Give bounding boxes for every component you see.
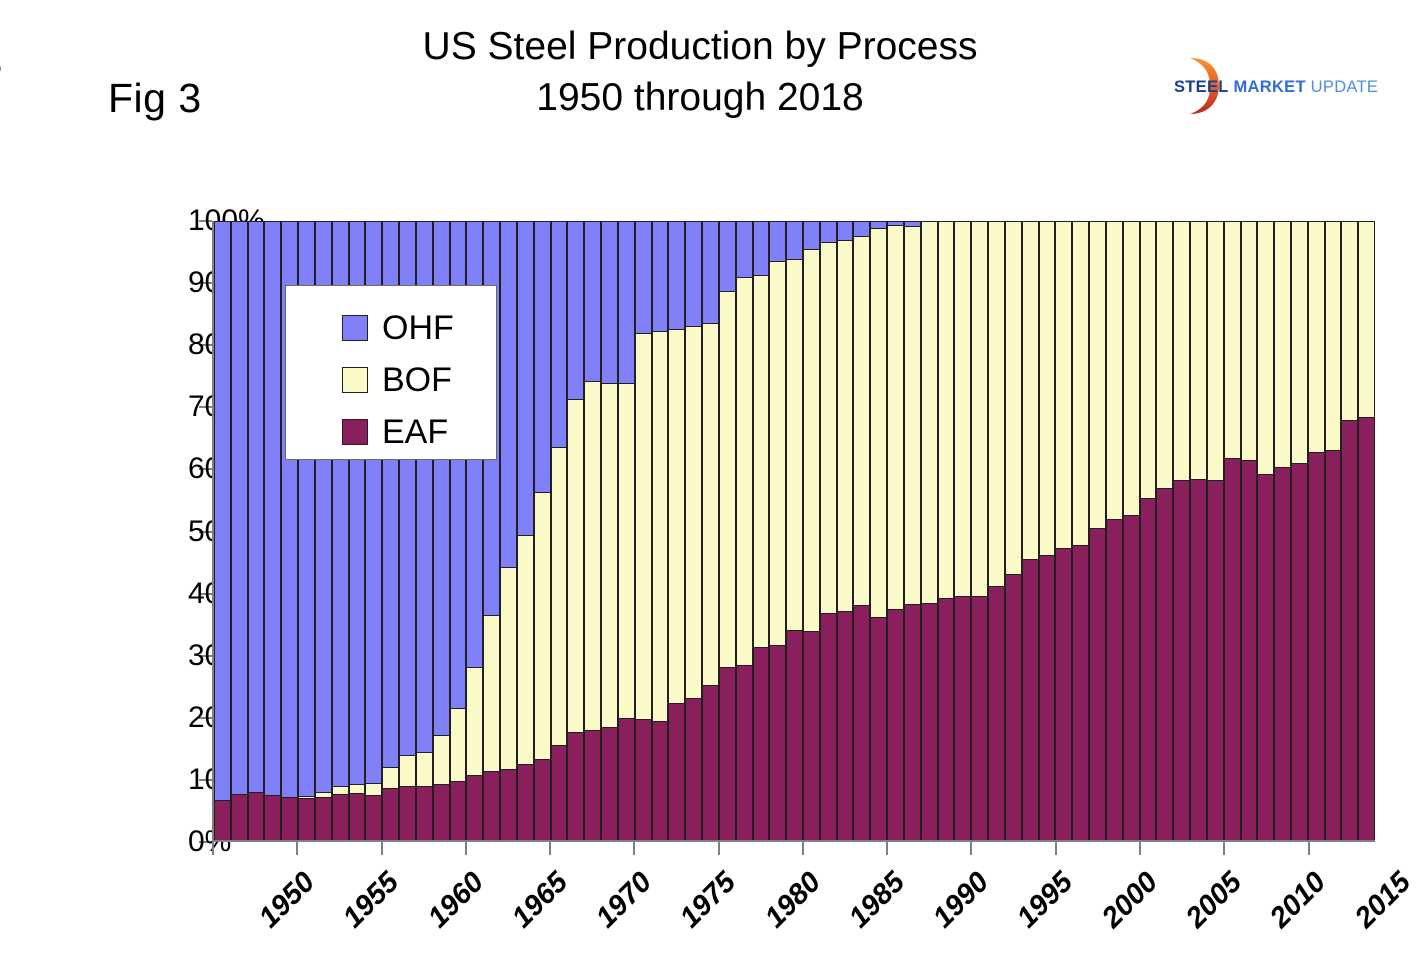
bar-segment-eaf — [1089, 528, 1106, 840]
bar-segment-eaf — [753, 647, 770, 840]
bar-1988 — [853, 221, 870, 840]
bar-1953 — [264, 221, 281, 840]
bar-segment-eaf — [214, 800, 231, 840]
bar-segment-ohf — [853, 221, 870, 236]
bar-2005 — [1140, 221, 1157, 840]
x-tick-mark — [1139, 842, 1141, 855]
bar-1974 — [618, 221, 635, 840]
bar-segment-eaf — [837, 611, 854, 840]
x-tick-mark — [296, 842, 298, 855]
bar-1995 — [971, 221, 988, 840]
bar-1981 — [736, 221, 753, 840]
bar-2001 — [1072, 221, 1089, 840]
bar-segment-bof — [1055, 221, 1072, 548]
bar-segment-bof — [349, 784, 366, 793]
bar-segment-eaf — [1140, 498, 1157, 840]
bar-segment-ohf — [820, 221, 837, 242]
bar-segment-bof — [736, 277, 753, 665]
bar-2015 — [1308, 221, 1325, 840]
bar-segment-eaf — [1291, 463, 1308, 840]
x-tick-label: 1975 — [674, 866, 743, 935]
bar-segment-bof — [702, 323, 719, 685]
bar-1950 — [214, 221, 231, 840]
x-tick-mark — [212, 842, 214, 855]
bar-segment-bof — [870, 228, 887, 616]
bar-segment-eaf — [820, 613, 837, 840]
bar-segment-ohf — [736, 221, 753, 277]
bar-segment-bof — [382, 767, 399, 788]
bar-segment-bof — [365, 783, 382, 795]
bar-1979 — [702, 221, 719, 840]
bar-segment-ohf — [231, 221, 248, 794]
legend-swatch-eaf — [342, 419, 368, 445]
bar-2012 — [1257, 221, 1274, 840]
bar-1969 — [534, 221, 551, 840]
bar-segment-eaf — [1173, 480, 1190, 840]
bar-1989 — [870, 221, 887, 840]
bar-segment-bof — [803, 249, 820, 632]
bar-segment-eaf — [534, 759, 551, 840]
bar-segment-bof — [567, 399, 584, 732]
bar-segment-eaf — [1039, 555, 1056, 840]
bar-segment-eaf — [231, 794, 248, 840]
bar-segment-bof — [988, 221, 1005, 586]
bar-2002 — [1089, 221, 1106, 840]
bar-segment-eaf — [1123, 515, 1140, 840]
bar-segment-bof — [1257, 221, 1274, 474]
x-tick-label: 1980 — [759, 866, 828, 935]
bar-segment-bof — [1291, 221, 1308, 463]
x-tick-label: 1990 — [927, 866, 996, 935]
bar-segment-eaf — [618, 718, 635, 840]
logo-wordmark: STEEL MARKET UPDATE — [1174, 78, 1378, 97]
bar-1977 — [668, 221, 685, 840]
bar-2018 — [1358, 221, 1375, 840]
bar-segment-ohf — [753, 221, 770, 275]
x-tick-mark — [1308, 842, 1310, 855]
bar-segment-bof — [1308, 221, 1325, 452]
bar-segment-bof — [466, 667, 483, 775]
bar-segment-eaf — [551, 745, 568, 840]
logo-word-market: MARKET — [1233, 78, 1305, 96]
legend-item-ohf: OHF — [286, 302, 496, 354]
bar-segment-eaf — [1022, 559, 1039, 840]
bar-segment-bof — [601, 383, 618, 727]
bar-segment-eaf — [719, 667, 736, 840]
bar-segment-bof — [517, 535, 534, 765]
bar-segment-ohf — [685, 221, 702, 326]
bar-segment-bof — [1241, 221, 1258, 460]
bar-segment-bof — [685, 326, 702, 697]
x-tick-label: 1950 — [253, 866, 322, 935]
bar-segment-eaf — [1156, 488, 1173, 840]
bar-segment-bof — [1274, 221, 1291, 467]
bar-segment-eaf — [635, 719, 652, 840]
bar-segment-eaf — [466, 775, 483, 840]
bar-segment-bof — [753, 275, 770, 648]
bar-segment-bof — [1156, 221, 1173, 488]
bar-segment-ohf — [517, 221, 534, 535]
bar-segment-bof — [618, 383, 635, 718]
bar-segment-eaf — [584, 730, 601, 840]
bar-segment-eaf — [433, 784, 450, 840]
bar-segment-eaf — [954, 596, 971, 840]
bar-segment-eaf — [904, 604, 921, 840]
bar-segment-bof — [1022, 221, 1039, 559]
x-tick-mark — [633, 842, 635, 855]
bar-segment-bof — [416, 752, 433, 787]
logo-word-update: UPDATE — [1311, 78, 1379, 96]
bar-segment-bof — [635, 333, 652, 719]
bar-1952 — [248, 221, 265, 840]
bar-segment-eaf — [416, 786, 433, 840]
bar-1982 — [753, 221, 770, 840]
bar-segment-eaf — [1341, 420, 1358, 840]
bar-segment-eaf — [517, 764, 534, 840]
x-tick-label: 1960 — [421, 866, 490, 935]
bar-segment-eaf — [264, 795, 281, 840]
chart-title-line2: 1950 through 2018 — [260, 73, 1140, 124]
bar-2009 — [1207, 221, 1224, 840]
bar-segment-eaf — [1325, 450, 1342, 840]
bar-segment-bof — [500, 567, 517, 769]
bar-segment-bof — [399, 755, 416, 786]
x-tick-mark — [886, 842, 888, 855]
bar-segment-eaf — [1207, 480, 1224, 840]
bar-segment-bof — [1072, 221, 1089, 545]
bar-segment-ohf — [584, 221, 601, 381]
bar-2008 — [1190, 221, 1207, 840]
bar-segment-eaf — [399, 786, 416, 840]
x-tick-label: 1985 — [843, 866, 912, 935]
bar-segment-eaf — [853, 605, 870, 840]
bar-segment-eaf — [736, 665, 753, 840]
bar-1968 — [517, 221, 534, 840]
bar-segment-eaf — [1308, 452, 1325, 840]
bar-segment-eaf — [1241, 460, 1258, 840]
bar-segment-eaf — [1358, 417, 1375, 840]
x-tick-mark — [1055, 842, 1057, 855]
bar-segment-eaf — [1055, 548, 1072, 840]
bar-1993 — [938, 221, 955, 840]
bar-segment-bof — [1089, 221, 1106, 528]
bar-segment-ohf — [500, 221, 517, 567]
bar-segment-eaf — [382, 788, 399, 840]
bar-segment-bof — [887, 225, 904, 609]
x-tick-label: 2010 — [1264, 866, 1333, 935]
legend-label: OHF — [382, 311, 454, 345]
bar-segment-eaf — [332, 794, 349, 840]
bar-2004 — [1123, 221, 1140, 840]
bar-1987 — [837, 221, 854, 840]
legend-item-eaf: EAF — [286, 406, 496, 458]
bar-1976 — [652, 221, 669, 840]
x-tick-mark — [718, 842, 720, 855]
bar-segment-bof — [1123, 221, 1140, 515]
bar-segment-bof — [719, 291, 736, 667]
bar-segment-bof — [668, 329, 685, 702]
bar-segment-ohf — [870, 221, 887, 228]
bar-segment-eaf — [803, 631, 820, 840]
bar-segment-bof — [1207, 221, 1224, 480]
bar-segment-eaf — [315, 797, 332, 840]
bar-1984 — [786, 221, 803, 840]
bar-segment-ohf — [652, 221, 669, 331]
bar-segment-bof — [652, 331, 669, 721]
bar-2010 — [1224, 221, 1241, 840]
bar-segment-eaf — [870, 617, 887, 840]
bar-segment-eaf — [1106, 519, 1123, 840]
bar-2011 — [1241, 221, 1258, 840]
bar-segment-bof — [853, 236, 870, 605]
bar-segment-eaf — [887, 609, 904, 840]
bar-1970 — [551, 221, 568, 840]
bar-segment-bof — [769, 261, 786, 645]
bar-1997 — [1005, 221, 1022, 840]
bar-segment-eaf — [1224, 458, 1241, 840]
bar-segment-ohf — [618, 221, 635, 383]
logo-word-steel: STEEL — [1174, 78, 1229, 96]
bar-2003 — [1106, 221, 1123, 840]
x-tick-mark — [802, 842, 804, 855]
figure-label: Fig 3 — [108, 75, 202, 122]
bar-1983 — [769, 221, 786, 840]
bar-segment-bof — [1341, 221, 1358, 420]
bar-2013 — [1274, 221, 1291, 840]
bar-1992 — [921, 221, 938, 840]
bar-segment-eaf — [938, 598, 955, 840]
bar-segment-bof — [1358, 221, 1375, 417]
bar-segment-ohf — [551, 221, 568, 447]
bar-segment-bof — [921, 221, 938, 603]
bar-segment-eaf — [349, 793, 366, 840]
bar-segment-bof — [551, 447, 568, 745]
x-tick-label: 2005 — [1180, 866, 1249, 935]
bar-segment-bof — [483, 615, 500, 771]
bar-segment-bof — [1224, 221, 1241, 458]
bar-1980 — [719, 221, 736, 840]
bar-2000 — [1055, 221, 1072, 840]
x-tick-mark — [970, 842, 972, 855]
bar-segment-bof — [433, 735, 450, 783]
x-tick-mark — [1223, 842, 1225, 855]
bar-segment-ohf — [534, 221, 551, 492]
x-tick-label: 2015 — [1348, 866, 1417, 935]
bar-1967 — [500, 221, 517, 840]
bar-segment-eaf — [769, 645, 786, 840]
bar-1972 — [584, 221, 601, 840]
bar-segment-eaf — [298, 798, 315, 840]
legend-item-bof: BOF — [286, 354, 496, 406]
x-tick-label: 2000 — [1096, 866, 1165, 935]
bar-1996 — [988, 221, 1005, 840]
bar-segment-eaf — [988, 586, 1005, 840]
bar-segment-bof — [332, 786, 349, 793]
bar-1991 — [904, 221, 921, 840]
bar-1985 — [803, 221, 820, 840]
steel-market-update-logo: STEEL MARKET UPDATE — [1152, 55, 1380, 117]
bar-segment-ohf — [248, 221, 265, 792]
bar-segment-eaf — [365, 795, 382, 840]
bar-2006 — [1156, 221, 1173, 840]
bar-2014 — [1291, 221, 1308, 840]
bar-segment-eaf — [281, 797, 298, 840]
chart-title-line1: US Steel Production by Process — [423, 25, 978, 68]
chart-page: Fig 3 US Steel Production by Process 195… — [0, 0, 1420, 973]
bar-1978 — [685, 221, 702, 840]
bar-segment-eaf — [685, 698, 702, 840]
y-axis-title: % Production by Process — [0, 0, 2, 300]
bar-segment-eaf — [1072, 545, 1089, 840]
bar-segment-bof — [450, 708, 467, 781]
bar-segment-eaf — [702, 685, 719, 840]
bar-2016 — [1325, 221, 1342, 840]
bar-segment-bof — [938, 221, 955, 598]
bar-segment-bof — [1190, 221, 1207, 479]
bar-segment-ohf — [601, 221, 618, 383]
x-tick-mark — [549, 842, 551, 855]
bar-segment-bof — [584, 381, 601, 730]
bar-segment-eaf — [652, 721, 669, 840]
chart-title: US Steel Production by Process 1950 thro… — [260, 22, 1140, 123]
bar-1990 — [887, 221, 904, 840]
bar-segment-bof — [1173, 221, 1190, 480]
bar-segment-eaf — [786, 630, 803, 840]
bar-segment-bof — [1106, 221, 1123, 519]
bar-segment-eaf — [971, 596, 988, 841]
bar-1975 — [635, 221, 652, 840]
bar-segment-eaf — [1005, 574, 1022, 840]
bar-segment-ohf — [837, 221, 854, 240]
bar-segment-bof — [954, 221, 971, 596]
bar-1998 — [1022, 221, 1039, 840]
bar-segment-eaf — [1274, 467, 1291, 840]
bar-segment-bof — [820, 242, 837, 613]
bar-segment-bof — [1140, 221, 1157, 498]
x-tick-label: 1970 — [590, 866, 659, 935]
bar-segment-eaf — [500, 769, 517, 840]
bar-segment-eaf — [248, 792, 265, 840]
bar-segment-bof — [1325, 221, 1342, 450]
legend-swatch-ohf — [342, 315, 368, 341]
bar-segment-ohf — [803, 221, 820, 249]
bar-1986 — [820, 221, 837, 840]
x-tick-label: 1955 — [337, 866, 406, 935]
bar-1973 — [601, 221, 618, 840]
bar-segment-bof — [1005, 221, 1022, 574]
bar-segment-eaf — [1190, 479, 1207, 840]
bar-segment-bof — [904, 226, 921, 604]
bar-segment-ohf — [264, 221, 281, 795]
bar-segment-eaf — [921, 603, 938, 840]
x-tick-mark — [381, 842, 383, 855]
bar-1951 — [231, 221, 248, 840]
bar-segment-eaf — [450, 781, 467, 840]
bar-segment-bof — [971, 221, 988, 596]
bar-2007 — [1173, 221, 1190, 840]
bar-segment-bof — [837, 240, 854, 611]
bar-segment-ohf — [786, 221, 803, 259]
legend-swatch-bof — [342, 367, 368, 393]
bar-segment-eaf — [668, 703, 685, 840]
bar-1971 — [567, 221, 584, 840]
bar-segment-ohf — [702, 221, 719, 323]
bar-1999 — [1039, 221, 1056, 840]
bar-segment-eaf — [601, 727, 618, 840]
bar-segment-eaf — [1257, 474, 1274, 840]
x-tick-label: 1965 — [506, 866, 575, 935]
bar-segment-ohf — [719, 221, 736, 291]
bar-segment-bof — [534, 492, 551, 759]
x-tick-mark — [465, 842, 467, 855]
bar-segment-ohf — [214, 221, 231, 800]
bar-segment-eaf — [483, 771, 500, 840]
bar-segment-ohf — [635, 221, 652, 333]
legend-label: BOF — [382, 363, 452, 397]
bar-segment-bof — [786, 259, 803, 630]
legend-label: EAF — [382, 415, 448, 449]
bar-2017 — [1341, 221, 1358, 840]
bar-1994 — [954, 221, 971, 840]
x-tick-label: 1995 — [1011, 866, 1080, 935]
bar-segment-bof — [1039, 221, 1056, 555]
chart-legend: OHFBOFEAF — [285, 285, 497, 460]
bar-segment-eaf — [567, 732, 584, 840]
bar-segment-ohf — [668, 221, 685, 329]
bar-segment-ohf — [567, 221, 584, 399]
bar-segment-ohf — [769, 221, 786, 261]
